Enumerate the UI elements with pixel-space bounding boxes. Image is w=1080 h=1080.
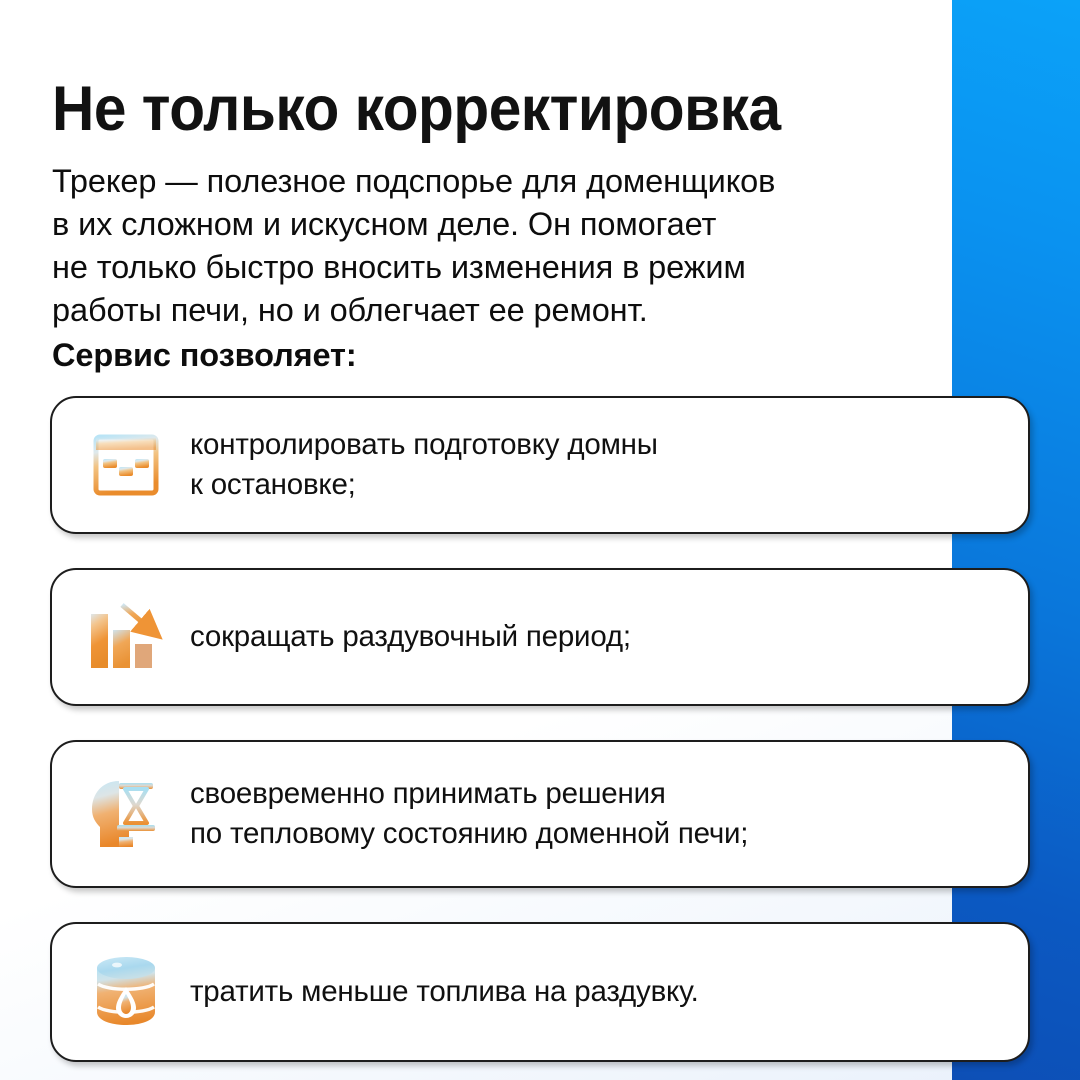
sliders-panel-icon (80, 419, 172, 511)
intro-line-1: Трекер — полезное подспорье для доменщик… (52, 160, 952, 203)
benefit-card-line: сокращать раздувочный период; (190, 617, 1004, 657)
benefit-card[interactable]: сокращать раздувочный период; (50, 568, 1030, 706)
intro-paragraph: Трекер — полезное подспорье для доменщик… (52, 160, 952, 377)
benefit-card-text: своевременно принимать решения по теплов… (172, 774, 1028, 854)
benefit-card-line: контролировать подготовку домны (190, 425, 1004, 465)
benefit-card-line: тратить меньше топлива на раздувку. (190, 972, 1004, 1012)
benefit-card-text: тратить меньше топлива на раздувку. (172, 972, 1028, 1012)
fuel-barrel-drop-icon (80, 946, 172, 1038)
slide-root: Не только корректировка Трекер — полезно… (0, 0, 1080, 1080)
intro-lead-in: Сервис позволяет: (52, 334, 952, 377)
benefit-card-list: контролировать подготовку домны к остано… (50, 396, 1030, 1062)
intro-line-3: не только быстро вносить изменения в реж… (52, 246, 952, 289)
benefit-card-text: сокращать раздувочный период; (172, 617, 1028, 657)
benefit-card-line: своевременно принимать решения (190, 774, 1004, 814)
benefit-card[interactable]: своевременно принимать решения по теплов… (50, 740, 1030, 888)
intro-line-2: в их сложном и искусном деле. Он помогае… (52, 203, 952, 246)
intro-line-4: работы печи, но и облегчает ее ремонт. (52, 289, 952, 332)
benefit-card-text: контролировать подготовку домны к остано… (172, 425, 1028, 505)
benefit-card[interactable]: тратить меньше топлива на раздувку. (50, 922, 1030, 1062)
benefit-card-line: к остановке; (190, 465, 1004, 505)
declining-bar-chart-icon (80, 591, 172, 683)
benefit-card-line: по тепловому состоянию доменной печи; (190, 814, 1004, 854)
head-hourglass-icon (80, 768, 172, 860)
benefit-card[interactable]: контролировать подготовку домны к остано… (50, 396, 1030, 534)
page-title: Не только корректировка (52, 75, 852, 143)
